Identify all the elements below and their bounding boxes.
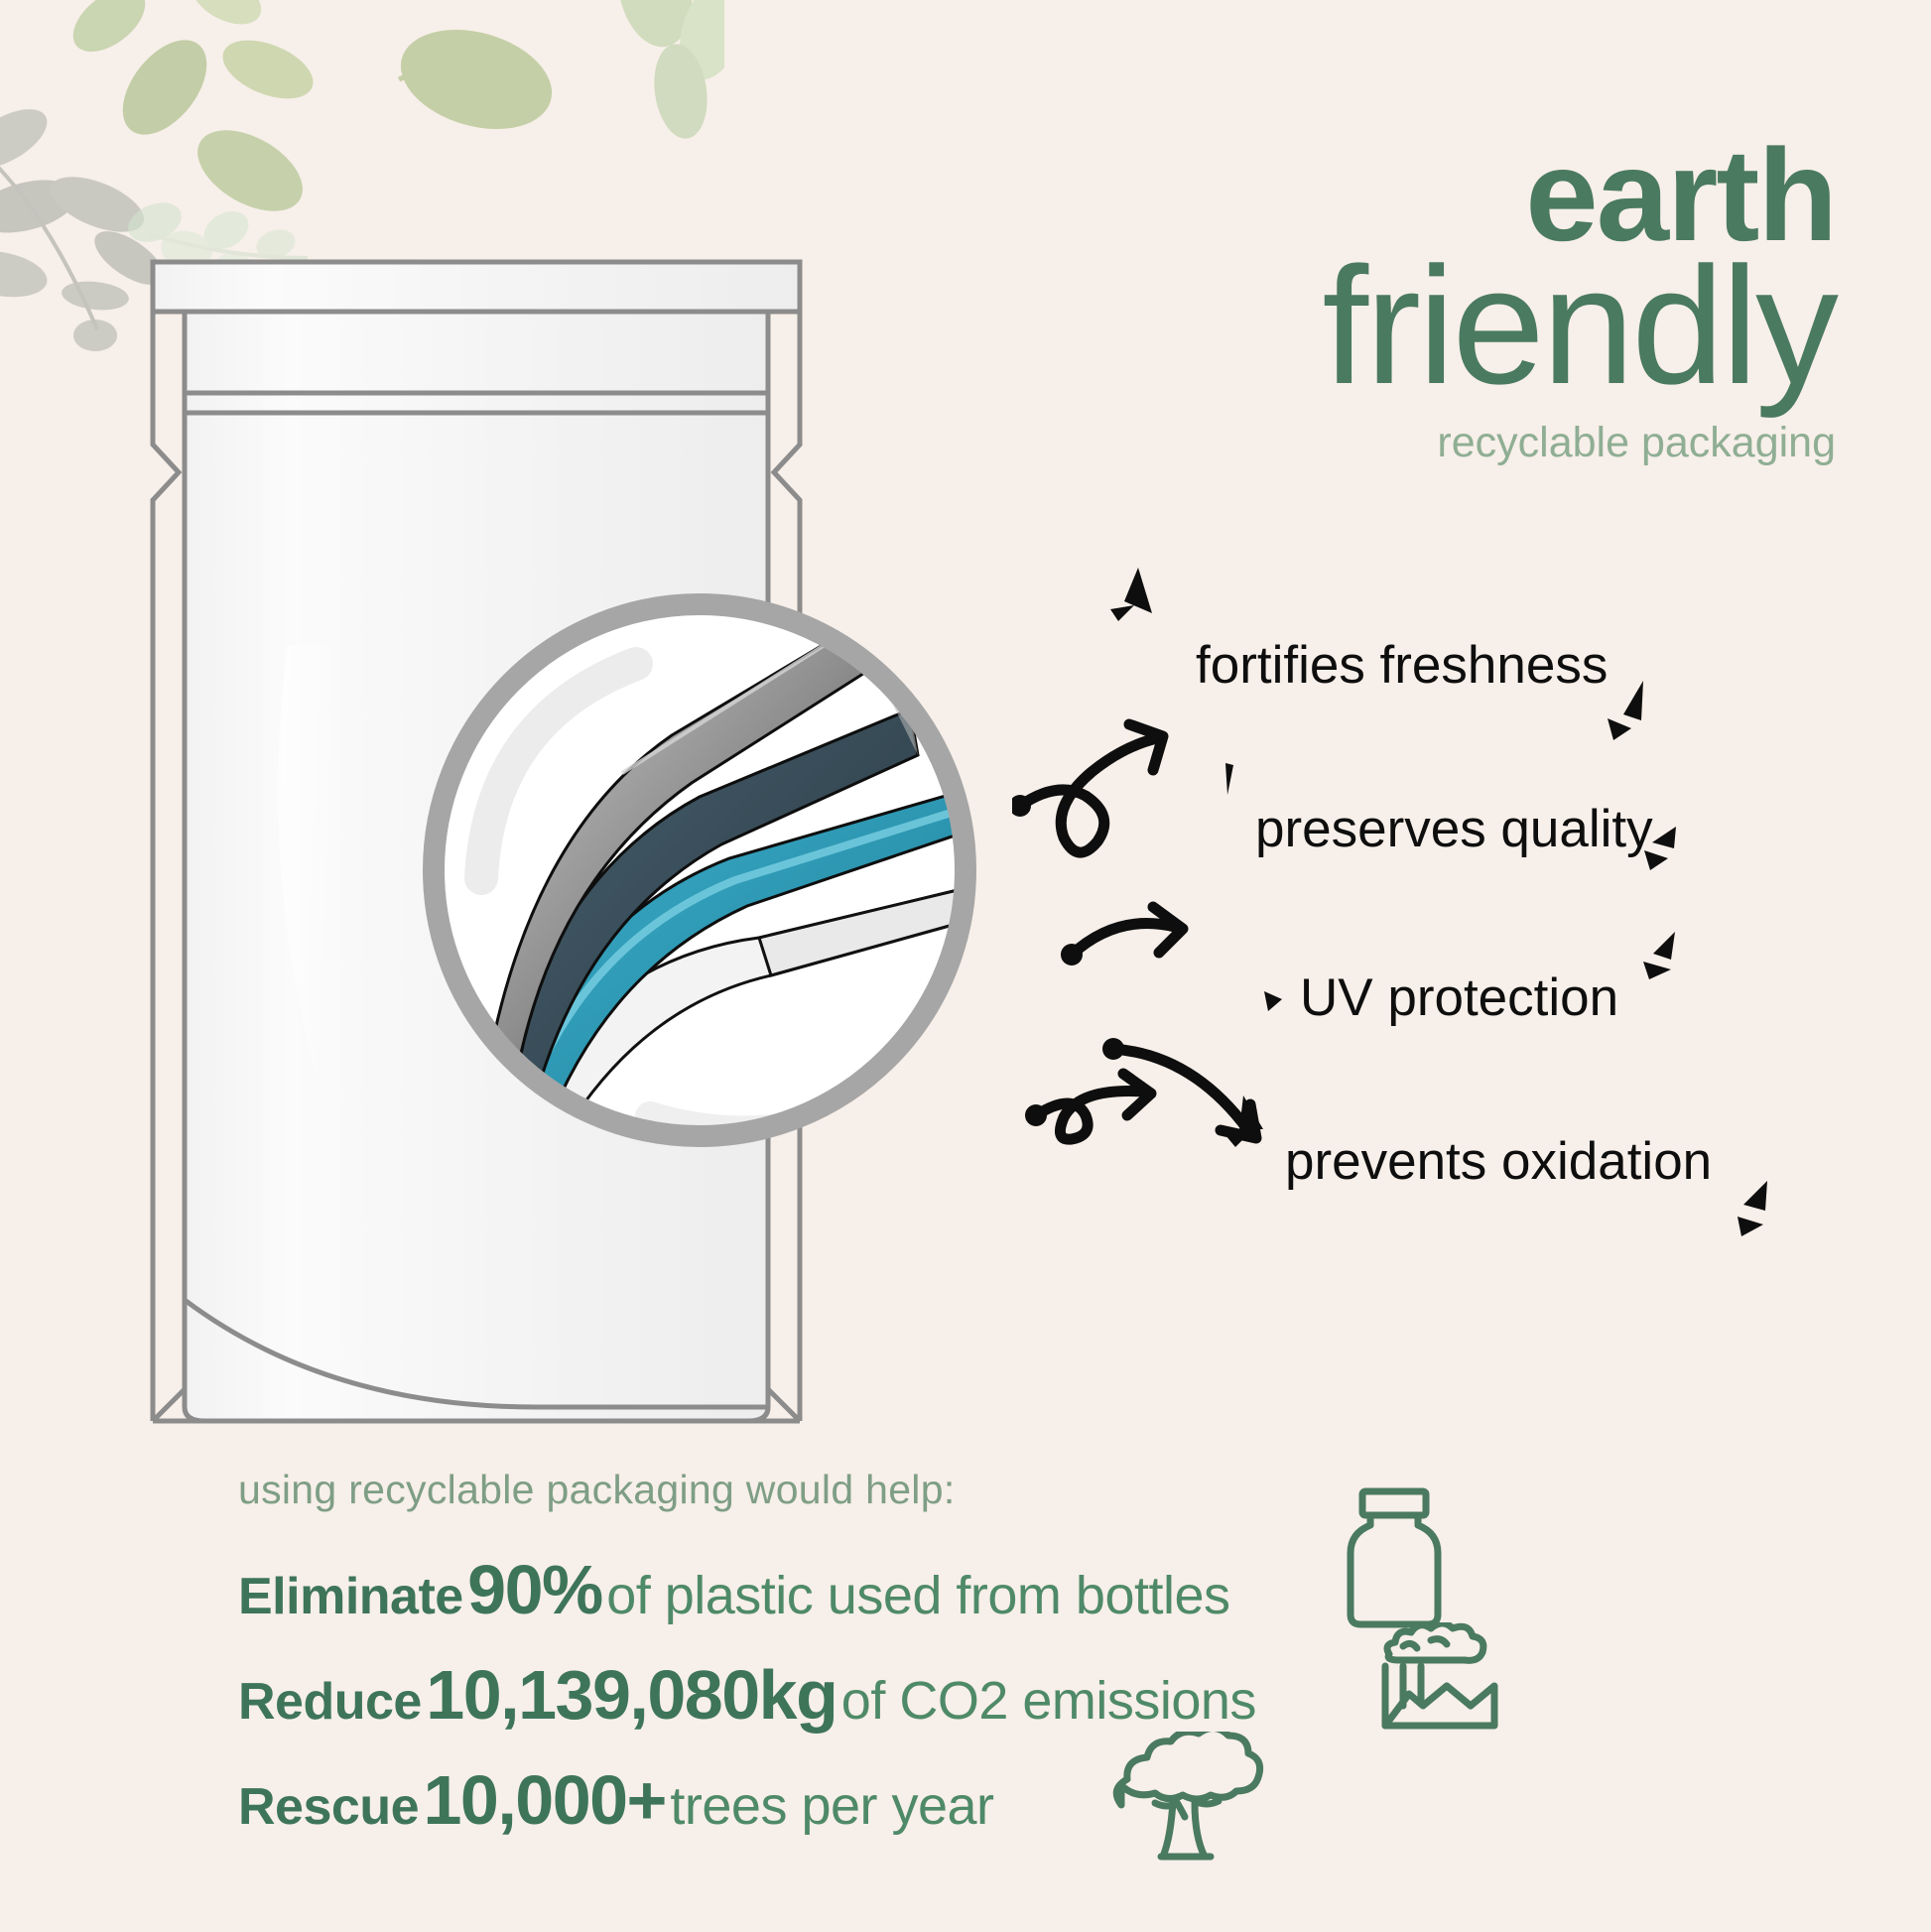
bottle-icon: [1335, 1483, 1464, 1632]
page-title-line2: friendly: [943, 249, 1836, 403]
headline-block: earth friendly recyclable packaging: [943, 135, 1836, 467]
sparkle-icon: [1588, 675, 1667, 754]
sparkle-icon: [1624, 821, 1704, 890]
sparkle-icon: [1619, 926, 1699, 1005]
sparkle-icon: [1223, 1088, 1293, 1167]
stat-value: 90%: [467, 1551, 602, 1628]
feature-label: preserves quality: [1255, 800, 1653, 858]
feature-item-uv-protection: UV protection: [1300, 967, 1618, 1028]
feature-label: fortifies freshness: [1196, 636, 1608, 695]
stat-verb: Reduce: [238, 1673, 422, 1731]
page-subtitle: recyclable packaging: [943, 419, 1836, 467]
feature-item-preserves-quality: preserves quality: [1255, 799, 1653, 859]
infographic-page: earth friendly recyclable packaging: [0, 0, 1931, 1932]
feature-label: UV protection: [1300, 968, 1618, 1027]
tree-icon: [1101, 1732, 1270, 1890]
stat-value: 10,000+: [423, 1761, 665, 1839]
stat-verb: Eliminate: [238, 1568, 463, 1625]
feature-item-prevents-oxidation: prevents oxidation: [1285, 1131, 1712, 1192]
feature-item-fortifies-freshness: fortifies freshness: [1196, 635, 1608, 696]
stat-description: of plastic used from bottles: [606, 1566, 1229, 1625]
sparkle-icon: [1714, 1177, 1793, 1256]
material-layers-magnifier: [402, 561, 997, 1181]
stat-description: of CO2 emissions: [841, 1671, 1256, 1731]
sparkle-icon: [1212, 761, 1251, 811]
sparkle-icon: [1108, 566, 1198, 645]
sparkle-icon: [1254, 985, 1304, 1035]
stat-description: trees per year: [670, 1776, 993, 1836]
feature-label: prevents oxidation: [1285, 1132, 1712, 1191]
stat-verb: Rescue: [238, 1778, 419, 1836]
stat-value: 10,139,080kg: [426, 1656, 837, 1734]
factory-icon: [1369, 1622, 1528, 1781]
